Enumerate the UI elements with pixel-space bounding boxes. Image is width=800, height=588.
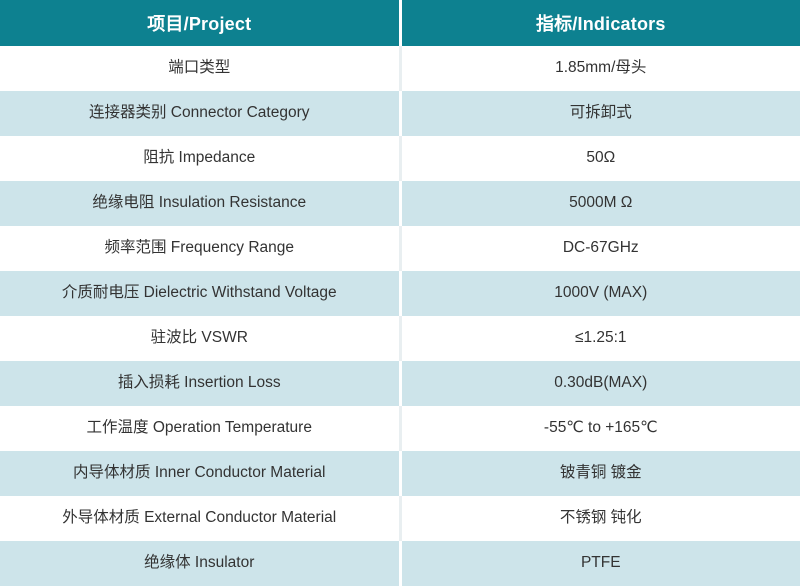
table-body: 端口类型1.85mm/母头连接器类别 Connector Category可拆卸… — [0, 46, 800, 586]
table-row: 驻波比 VSWR≤1.25:1 — [0, 316, 800, 361]
cell-indicator: PTFE — [400, 541, 800, 586]
cell-project: 介质耐电压 Dielectric Withstand Voltage — [0, 271, 400, 316]
column-header-project: 项目/Project — [0, 0, 400, 46]
table-header: 项目/Project 指标/Indicators — [0, 0, 800, 46]
table-row: 频率范围 Frequency RangeDC-67GHz — [0, 226, 800, 271]
table-row: 端口类型1.85mm/母头 — [0, 46, 800, 91]
column-header-indicator: 指标/Indicators — [400, 0, 800, 46]
cell-indicator: ≤1.25:1 — [400, 316, 800, 361]
cell-indicator: 铍青铜 镀金 — [400, 451, 800, 496]
table-row: 绝缘体 InsulatorPTFE — [0, 541, 800, 586]
table-row: 外导体材质 External Conductor Material不锈钢 钝化 — [0, 496, 800, 541]
table-header-row: 项目/Project 指标/Indicators — [0, 0, 800, 46]
cell-project: 工作温度 Operation Temperature — [0, 406, 400, 451]
cell-project: 绝缘体 Insulator — [0, 541, 400, 586]
cell-indicator: 5000M Ω — [400, 181, 800, 226]
table-row: 阻抗 Impedance50Ω — [0, 136, 800, 181]
cell-project: 端口类型 — [0, 46, 400, 91]
cell-project: 插入损耗 Insertion Loss — [0, 361, 400, 406]
cell-indicator: 0.30dB(MAX) — [400, 361, 800, 406]
table-row: 连接器类别 Connector Category可拆卸式 — [0, 91, 800, 136]
table-row: 介质耐电压 Dielectric Withstand Voltage1000V … — [0, 271, 800, 316]
cell-indicator: 不锈钢 钝化 — [400, 496, 800, 541]
cell-indicator: 可拆卸式 — [400, 91, 800, 136]
cell-indicator: 1000V (MAX) — [400, 271, 800, 316]
table-row: 插入损耗 Insertion Loss0.30dB(MAX) — [0, 361, 800, 406]
cell-project: 驻波比 VSWR — [0, 316, 400, 361]
table-row: 绝缘电阻 Insulation Resistance5000M Ω — [0, 181, 800, 226]
cell-project: 绝缘电阻 Insulation Resistance — [0, 181, 400, 226]
table-row: 内导体材质 Inner Conductor Material铍青铜 镀金 — [0, 451, 800, 496]
cell-project: 连接器类别 Connector Category — [0, 91, 400, 136]
cell-project: 频率范围 Frequency Range — [0, 226, 400, 271]
table-row: 工作温度 Operation Temperature-55℃ to +165℃ — [0, 406, 800, 451]
cell-indicator: 1.85mm/母头 — [400, 46, 800, 91]
cell-project: 内导体材质 Inner Conductor Material — [0, 451, 400, 496]
specifications-table: 项目/Project 指标/Indicators 端口类型1.85mm/母头连接… — [0, 0, 800, 586]
cell-indicator: 50Ω — [400, 136, 800, 181]
cell-indicator: -55℃ to +165℃ — [400, 406, 800, 451]
cell-project: 外导体材质 External Conductor Material — [0, 496, 400, 541]
cell-indicator: DC-67GHz — [400, 226, 800, 271]
cell-project: 阻抗 Impedance — [0, 136, 400, 181]
